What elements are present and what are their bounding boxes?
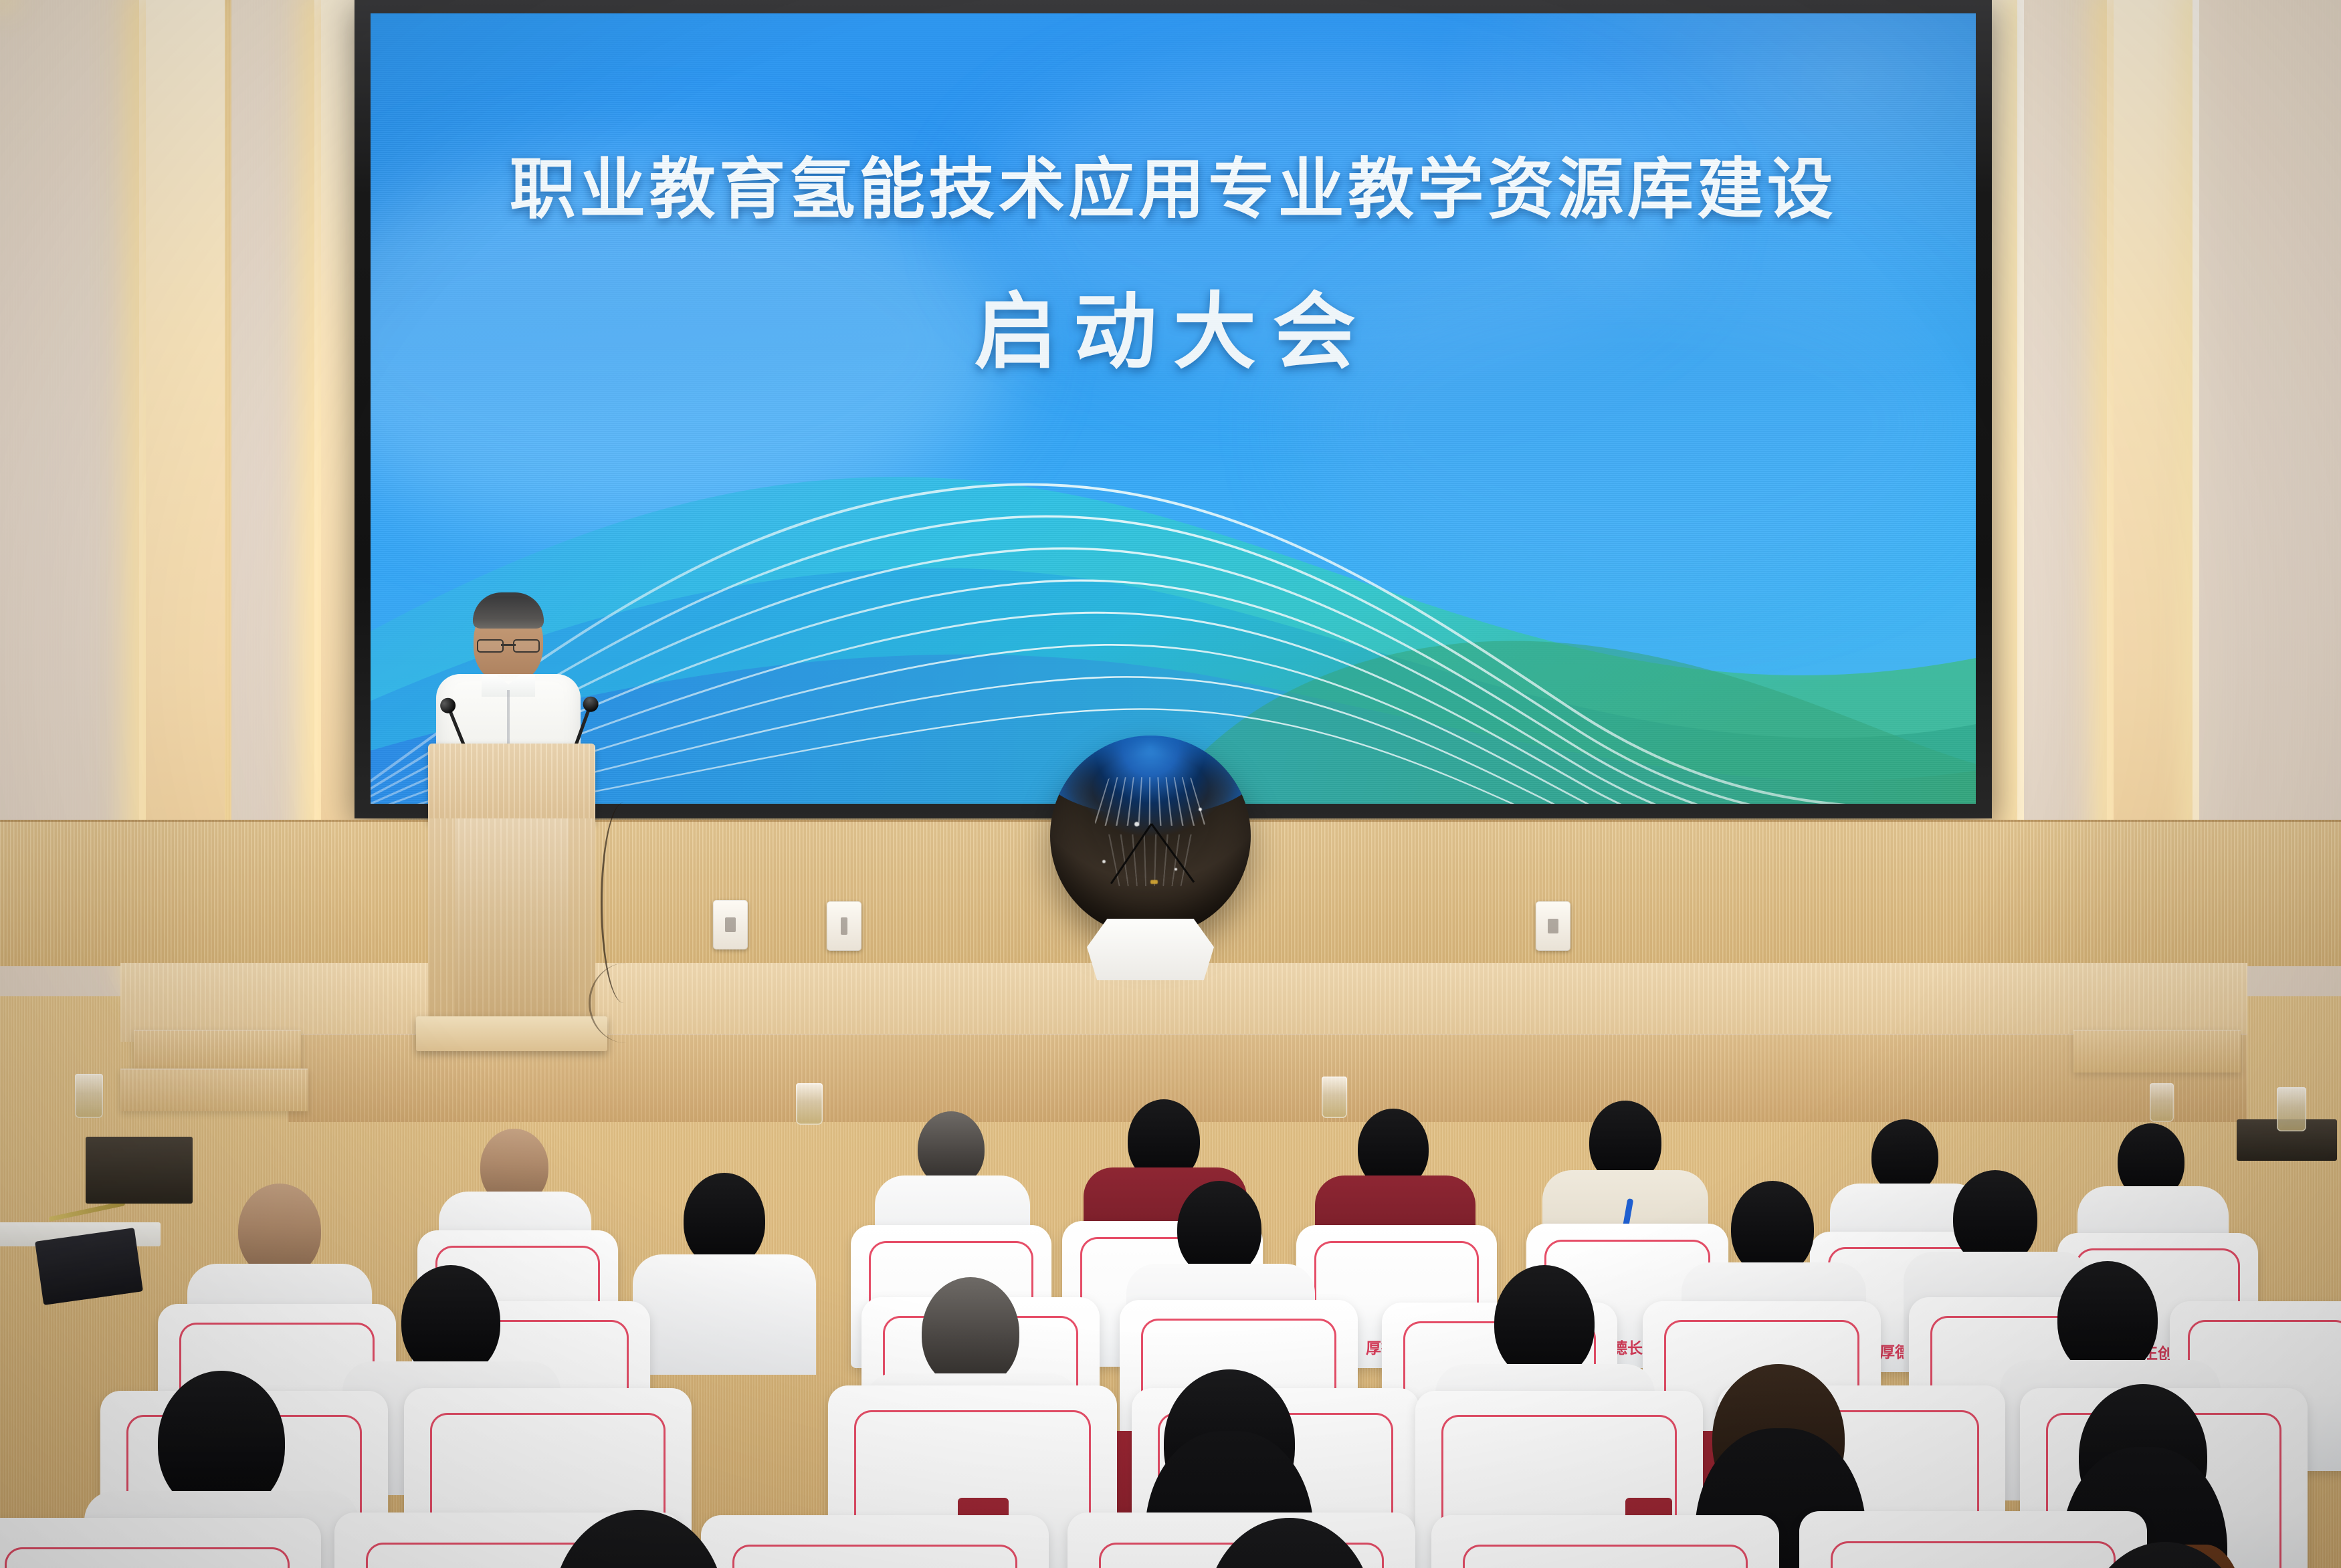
- led-display-bezel: 职业教育氢能技术应用专业教学资源库建设 启动大会: [354, 0, 1992, 818]
- reflective-sphere: [1050, 736, 1251, 936]
- audience-head: [1494, 1265, 1595, 1380]
- audience-head: [2057, 1261, 2158, 1376]
- speaker-hair-top: [473, 596, 544, 629]
- audience-head: [401, 1265, 500, 1377]
- audience-shoulders: [633, 1254, 816, 1375]
- conference-hall-photo: 职业教育氢能技术应用专业教学资源库建设 启动大会: [0, 0, 2341, 1568]
- wave-graphic: [371, 314, 1976, 804]
- audience-seat: 厚德长技: [1431, 1515, 1779, 1568]
- audience-seat: 守正创新: [701, 1515, 1049, 1568]
- speaker-glasses: [477, 639, 540, 650]
- wall-socket-1: [713, 900, 748, 949]
- audience-head: [238, 1184, 321, 1277]
- audience-seat: [0, 1518, 321, 1568]
- audience-seat: 守正创新: [1799, 1511, 2147, 1568]
- wall-socket-3: [1536, 901, 1570, 951]
- audience-area: 厚德长技 厚德长技 守正创新 厚德长技 厚德长技 厚德长技 守正创新: [0, 963, 2341, 1568]
- audience-head: [922, 1277, 1019, 1388]
- led-display-screen: 职业教育氢能技术应用专业教学资源库建设 启动大会: [371, 13, 1976, 804]
- audience-head: [1177, 1181, 1261, 1277]
- slide-title-line2: 启动大会: [371, 264, 1976, 384]
- sphere-ceiling-reflection: [1094, 777, 1207, 826]
- sphere-sculpture: [1050, 736, 1251, 936]
- audience-head: [684, 1173, 765, 1268]
- audience-head: [1731, 1181, 1814, 1276]
- slide-title-line1: 职业教育氢能技术应用专业教学资源库建设: [371, 135, 1976, 231]
- wall-socket-2: [827, 901, 861, 951]
- sphere-ceiling-reflection-2: [1108, 834, 1193, 886]
- podium-top-panel: [428, 744, 595, 822]
